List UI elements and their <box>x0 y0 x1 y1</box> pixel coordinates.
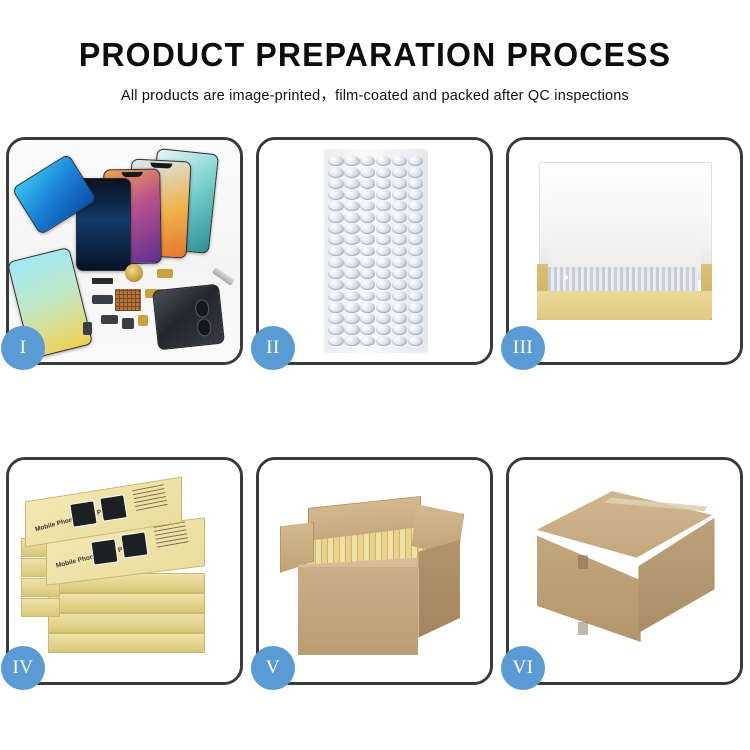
bubble <box>392 189 407 200</box>
bubble <box>328 313 343 324</box>
step-panel-2: II <box>256 137 493 365</box>
step-3-image <box>509 140 740 362</box>
bubble <box>360 156 375 167</box>
bubble <box>328 336 343 347</box>
step-badge-6: VI <box>501 646 545 690</box>
phone-notch-icon <box>93 181 113 186</box>
process-steps-grid: I II III <box>6 137 744 697</box>
carton-seam-mark <box>578 555 587 568</box>
bubble <box>344 257 359 268</box>
bubble <box>376 279 391 290</box>
bubble <box>344 167 359 178</box>
bubble <box>360 201 375 212</box>
box-screen-image <box>70 500 99 528</box>
bubble <box>360 313 375 324</box>
bubble <box>392 178 407 189</box>
step-1-image <box>9 140 240 362</box>
step-panel-5: V <box>256 457 493 685</box>
part-chip <box>92 278 113 285</box>
part-flex-cable <box>157 269 173 278</box>
bubble <box>408 201 423 212</box>
bubble <box>344 268 359 279</box>
bubble <box>360 324 375 335</box>
bubble <box>328 167 343 178</box>
bubble <box>408 257 423 268</box>
bubble <box>376 336 391 347</box>
bubble <box>344 201 359 212</box>
bubble <box>408 324 423 335</box>
bubble <box>376 246 391 257</box>
stacked-box <box>48 633 205 653</box>
step-panel-4: Mobile Phone Spare Parts Mobile Phone Sp… <box>6 457 243 685</box>
box-lid-inner <box>548 182 700 271</box>
bubble <box>328 257 343 268</box>
stacked-box <box>21 598 60 618</box>
bubble <box>344 246 359 257</box>
bubble <box>344 178 359 189</box>
bubble <box>360 212 375 223</box>
bubble <box>376 201 391 212</box>
bubble <box>408 223 423 234</box>
carton-front-face <box>298 567 418 656</box>
bubble <box>344 234 359 245</box>
camera-lens-icon <box>196 317 211 336</box>
bubble <box>344 313 359 324</box>
bubble <box>344 156 359 167</box>
bubble <box>408 156 423 167</box>
step-panel-3: III <box>506 137 743 365</box>
bubble <box>392 223 407 234</box>
bubble <box>392 156 407 167</box>
bubble <box>360 291 375 302</box>
step-2-image <box>259 140 490 362</box>
bubble <box>360 246 375 257</box>
step-5-image <box>259 460 490 682</box>
bubble <box>376 178 391 189</box>
bubble-wrap-bubbles <box>328 156 423 347</box>
bubble <box>328 156 343 167</box>
bubble <box>376 189 391 200</box>
step-6-image <box>509 460 740 682</box>
bubble <box>392 336 407 347</box>
bubble <box>360 223 375 234</box>
bubble <box>376 268 391 279</box>
bubble <box>408 212 423 223</box>
part-copper-grid <box>115 289 140 311</box>
step-badge-4: IV <box>1 646 45 690</box>
bubble <box>392 279 407 290</box>
bubble <box>360 257 375 268</box>
phone-back-housing <box>152 283 225 349</box>
bubble <box>376 313 391 324</box>
part-connector <box>138 315 147 326</box>
bubble <box>408 246 423 257</box>
step-badge-2: II <box>251 326 295 370</box>
bubble <box>376 234 391 245</box>
bubble <box>408 167 423 178</box>
part-coil <box>125 264 143 282</box>
bubble <box>376 324 391 335</box>
bubble <box>328 201 343 212</box>
bubble <box>376 167 391 178</box>
bubble <box>376 212 391 223</box>
page-title: PRODUCT PREPARATION PROCESS <box>11 0 739 73</box>
bubble <box>344 324 359 335</box>
carton-seam-mark <box>578 622 587 635</box>
bubble <box>344 189 359 200</box>
step-badge-1: I <box>1 326 45 370</box>
bubble <box>344 223 359 234</box>
bubble <box>328 246 343 257</box>
bubble <box>344 212 359 223</box>
bubble <box>376 257 391 268</box>
bubble <box>392 212 407 223</box>
bubble <box>360 234 375 245</box>
bubble <box>360 189 375 200</box>
bubble <box>344 302 359 313</box>
camera-lens-icon <box>194 298 209 317</box>
bubble <box>328 324 343 335</box>
bubble <box>360 167 375 178</box>
bubble <box>344 291 359 302</box>
bubble <box>392 246 407 257</box>
part-bracket <box>92 295 113 304</box>
bubble <box>376 223 391 234</box>
box-screen-image <box>100 494 129 522</box>
bubble <box>408 313 423 324</box>
phone-notch-icon <box>121 172 142 177</box>
step-panel-6: VI <box>506 457 743 685</box>
bubble <box>408 291 423 302</box>
bubble <box>328 234 343 245</box>
bubble <box>328 302 343 313</box>
bubble <box>344 336 359 347</box>
bubble <box>376 302 391 313</box>
stacked-box <box>48 613 205 633</box>
bubble <box>376 156 391 167</box>
bubble-wrapped-contents <box>548 267 698 294</box>
stacked-box <box>48 593 205 613</box>
step-badge-3: III <box>501 326 545 370</box>
box-screen-image <box>121 532 149 559</box>
bubble <box>408 336 423 347</box>
bubble <box>328 268 343 279</box>
bubble <box>392 201 407 212</box>
bubble <box>328 212 343 223</box>
page-subtitle: All products are image-printed，film-coat… <box>0 73 750 105</box>
bubble <box>408 279 423 290</box>
step-panel-1: I <box>6 137 243 365</box>
bubble <box>392 313 407 324</box>
part-speaker <box>101 315 117 324</box>
bubble <box>408 178 423 189</box>
bubble <box>328 223 343 234</box>
bubble <box>360 178 375 189</box>
bubble <box>328 189 343 200</box>
bubble <box>392 167 407 178</box>
repair-tool <box>212 267 235 286</box>
part-button <box>122 318 134 329</box>
bubble <box>392 257 407 268</box>
step-badge-5: V <box>251 646 295 690</box>
bubble <box>408 268 423 279</box>
bubble <box>408 189 423 200</box>
bubble <box>328 178 343 189</box>
bubble <box>360 279 375 290</box>
bubble <box>392 268 407 279</box>
bubble <box>392 291 407 302</box>
part-sim-tray <box>83 322 92 335</box>
bubble <box>328 291 343 302</box>
bubble <box>408 302 423 313</box>
bubble <box>360 302 375 313</box>
bubble <box>360 336 375 347</box>
bubble <box>392 234 407 245</box>
box-screen-image <box>91 538 119 565</box>
bubble <box>328 279 343 290</box>
bubble <box>408 234 423 245</box>
step-4-image: Mobile Phone Spare Parts Mobile Phone Sp… <box>9 460 240 682</box>
bubble <box>376 291 391 302</box>
box-tray-front <box>537 291 713 320</box>
bubble <box>392 324 407 335</box>
page-header: PRODUCT PREPARATION PROCESS All products… <box>0 0 750 105</box>
carton-side-face <box>418 540 460 638</box>
bubble <box>360 268 375 279</box>
bubble <box>392 302 407 313</box>
bubble <box>344 279 359 290</box>
